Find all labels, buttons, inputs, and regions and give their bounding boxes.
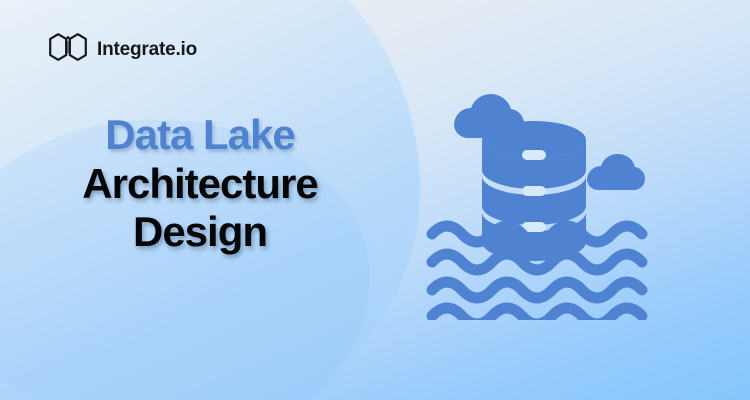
data-lake-illustration	[424, 80, 664, 320]
double-hexagon-logo-icon	[48, 32, 88, 67]
brand-logo[interactable]: Integrate.io	[48, 32, 197, 67]
title-line-1: Data Lake	[0, 112, 400, 157]
brand-name: Integrate.io	[97, 40, 197, 59]
title-line-2: Architecture	[0, 161, 400, 206]
banner-canvas: Integrate.io Data Lake Architecture Desi…	[0, 0, 750, 400]
water-waves-icon	[432, 226, 642, 320]
page-title: Data Lake Architecture Design	[0, 112, 400, 254]
title-line-3: Design	[0, 209, 400, 254]
cloud-icon-small	[587, 154, 645, 190]
